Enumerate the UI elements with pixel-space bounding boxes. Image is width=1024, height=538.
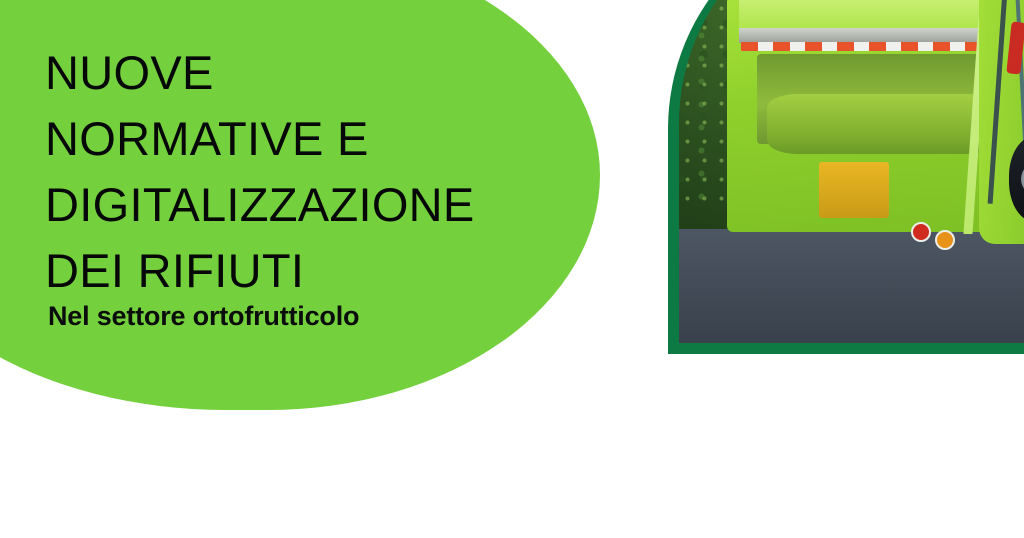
garbage-truck-photo-frame: [668, 0, 1024, 354]
headline-block: NUOVE NORMATIVE E DIGITALIZZAZIONE DEI R…: [45, 40, 565, 304]
truck-yellow-toolbox: [819, 162, 889, 218]
truck-taillamp-amber: [935, 230, 955, 250]
subheadline: Nel settore ortofrutticolo: [48, 301, 359, 332]
garbage-truck-photo: [679, 0, 1024, 343]
webinar-promo-banner: NUOVE NORMATIVE E DIGITALIZZAZIONE DEI R…: [0, 0, 1024, 538]
headline-line-1: NUOVE: [45, 40, 565, 106]
headline-line-2: NORMATIVE E: [45, 106, 565, 172]
photo-scene: [679, 0, 1024, 343]
headline-line-3: DIGITALIZZAZIONE: [45, 172, 565, 238]
headline-line-4: DEI RIFIUTI: [45, 238, 565, 304]
truck-taillamp-red: [911, 222, 931, 242]
truck-drum: [767, 94, 997, 154]
footer-info-row: Live webinar: [0, 388, 1024, 538]
